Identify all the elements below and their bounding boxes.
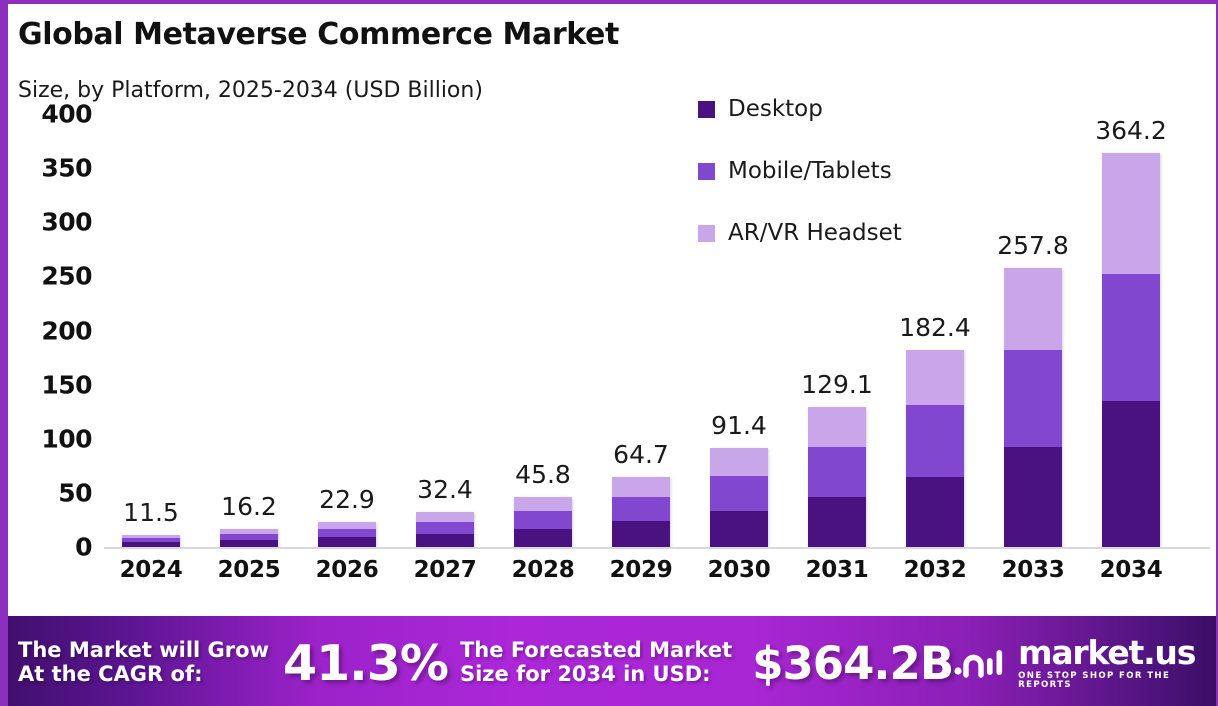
x-axis-tick: 2028 bbox=[494, 557, 592, 583]
bar-stack[interactable] bbox=[1004, 268, 1062, 547]
x-axis-tick: 2026 bbox=[298, 557, 396, 583]
bar-segment-mobile-tablets[interactable] bbox=[318, 529, 376, 537]
bar-value-label: 32.4 bbox=[417, 475, 473, 504]
bar-stack[interactable] bbox=[1102, 153, 1160, 547]
bar-value-label: 129.1 bbox=[801, 370, 873, 399]
bar-segment-mobile-tablets[interactable] bbox=[514, 511, 572, 528]
cagr-caption-line2: At the CAGR of: bbox=[18, 663, 269, 687]
bar-segment-ar-vr-headset[interactable] bbox=[808, 407, 866, 446]
bar-segment-desktop[interactable] bbox=[1004, 447, 1062, 547]
bar-stack[interactable] bbox=[710, 448, 768, 547]
cagr-caption-line1: The Market will Grow bbox=[18, 639, 269, 663]
bar-segment-desktop[interactable] bbox=[808, 497, 866, 547]
y-axis-tick: 350 bbox=[8, 154, 92, 183]
forecast-caption-line1: The Forecasted Market bbox=[460, 639, 732, 663]
bar-segment-desktop[interactable] bbox=[220, 540, 278, 547]
bar-value-label: 45.8 bbox=[515, 460, 571, 489]
bar-segment-mobile-tablets[interactable] bbox=[1102, 274, 1160, 401]
forecast-caption: The Forecasted Market Size for 2034 in U… bbox=[460, 639, 732, 686]
bar-segment-mobile-tablets[interactable] bbox=[612, 497, 670, 522]
bar-value-label: 11.5 bbox=[123, 498, 179, 527]
bar-segment-desktop[interactable] bbox=[906, 477, 964, 547]
y-axis-tick: 50 bbox=[8, 478, 92, 507]
x-axis-tick: 2032 bbox=[886, 557, 984, 583]
bar-stack[interactable] bbox=[416, 512, 474, 547]
x-axis-tick: 2029 bbox=[592, 557, 690, 583]
bar-value-label: 91.4 bbox=[711, 411, 767, 440]
bar-value-label: 64.7 bbox=[613, 440, 669, 469]
page-title: Global Metaverse Commerce Market bbox=[18, 17, 619, 52]
bar-segment-ar-vr-headset[interactable] bbox=[1004, 268, 1062, 350]
bar-segment-desktop[interactable] bbox=[710, 511, 768, 547]
bar-segment-desktop[interactable] bbox=[1102, 401, 1160, 547]
bar-segment-mobile-tablets[interactable] bbox=[808, 447, 866, 497]
y-axis-tick: 250 bbox=[8, 262, 92, 291]
chart-plot: 400350300250200150100500 11.516.222.932.… bbox=[8, 114, 1218, 609]
x-axis-tick: 2034 bbox=[1082, 557, 1180, 583]
brand-name: market.us bbox=[1018, 636, 1202, 669]
x-axis: 2024202520262027202820292030203120322033… bbox=[104, 557, 1210, 597]
x-axis-tick: 2030 bbox=[690, 557, 788, 583]
market-us-logo-icon bbox=[953, 641, 1009, 685]
bar-segment-mobile-tablets[interactable] bbox=[1004, 350, 1062, 446]
bar-stack[interactable] bbox=[612, 477, 670, 547]
forecast-caption-line2: Size for 2034 in USD: bbox=[460, 663, 732, 687]
bar-segment-desktop[interactable] bbox=[416, 534, 474, 547]
bar-segment-desktop[interactable] bbox=[514, 529, 572, 547]
y-axis: 400350300250200150100500 bbox=[8, 114, 92, 547]
y-axis-tick: 300 bbox=[8, 208, 92, 237]
x-axis-baseline bbox=[104, 547, 1210, 549]
bar-value-label: 16.2 bbox=[221, 492, 277, 521]
bar-stack[interactable] bbox=[906, 350, 964, 547]
summary-banner: The Market will Grow At the CAGR of: 41.… bbox=[0, 616, 1218, 706]
cagr-value: 41.3% bbox=[283, 635, 448, 692]
bar-stack[interactable] bbox=[220, 529, 278, 547]
bar-segment-ar-vr-headset[interactable] bbox=[416, 512, 474, 522]
x-axis-tick: 2031 bbox=[788, 557, 886, 583]
bar-segment-mobile-tablets[interactable] bbox=[416, 522, 474, 534]
bar-stack[interactable] bbox=[808, 407, 866, 547]
y-axis-tick: 200 bbox=[8, 316, 92, 345]
bar-segment-ar-vr-headset[interactable] bbox=[710, 448, 768, 476]
bar-stack[interactable] bbox=[122, 535, 180, 547]
cagr-caption: The Market will Grow At the CAGR of: bbox=[18, 639, 269, 686]
bar-segment-ar-vr-headset[interactable] bbox=[514, 497, 572, 511]
bar-stack[interactable] bbox=[318, 522, 376, 547]
bar-segment-ar-vr-headset[interactable] bbox=[1102, 153, 1160, 274]
bar-segment-mobile-tablets[interactable] bbox=[906, 405, 964, 477]
x-axis-tick: 2025 bbox=[200, 557, 298, 583]
bar-segment-ar-vr-headset[interactable] bbox=[906, 350, 964, 405]
bar-segment-ar-vr-headset[interactable] bbox=[612, 477, 670, 497]
y-axis-tick: 0 bbox=[8, 533, 92, 562]
x-axis-tick: 2024 bbox=[102, 557, 200, 583]
y-axis-tick: 150 bbox=[8, 370, 92, 399]
bar-value-label: 257.8 bbox=[997, 231, 1069, 260]
bar-value-label: 182.4 bbox=[899, 313, 971, 342]
x-axis-tick: 2027 bbox=[396, 557, 494, 583]
bar-segment-desktop[interactable] bbox=[318, 537, 376, 547]
brand-text: market.us ONE STOP SHOP FOR THE REPORTS bbox=[1018, 636, 1202, 689]
bar-segment-ar-vr-headset[interactable] bbox=[318, 522, 376, 529]
y-axis-tick: 100 bbox=[8, 424, 92, 453]
bar-segment-desktop[interactable] bbox=[612, 521, 670, 547]
y-axis-tick: 400 bbox=[8, 100, 92, 129]
plot-area: 11.516.222.932.445.864.791.4129.1182.425… bbox=[104, 114, 1210, 547]
infographic-root: Global Metaverse Commerce Market Size, b… bbox=[0, 0, 1218, 706]
x-axis-tick: 2033 bbox=[984, 557, 1082, 583]
bar-segment-mobile-tablets[interactable] bbox=[710, 476, 768, 511]
forecast-value: $364.2B bbox=[752, 637, 953, 690]
bar-stack[interactable] bbox=[514, 497, 572, 547]
brand-logo[interactable]: market.us ONE STOP SHOP FOR THE REPORTS bbox=[953, 636, 1202, 689]
bar-value-label: 22.9 bbox=[319, 485, 375, 514]
bar-value-label: 364.2 bbox=[1095, 116, 1167, 145]
brand-tagline: ONE STOP SHOP FOR THE REPORTS bbox=[1018, 672, 1202, 689]
